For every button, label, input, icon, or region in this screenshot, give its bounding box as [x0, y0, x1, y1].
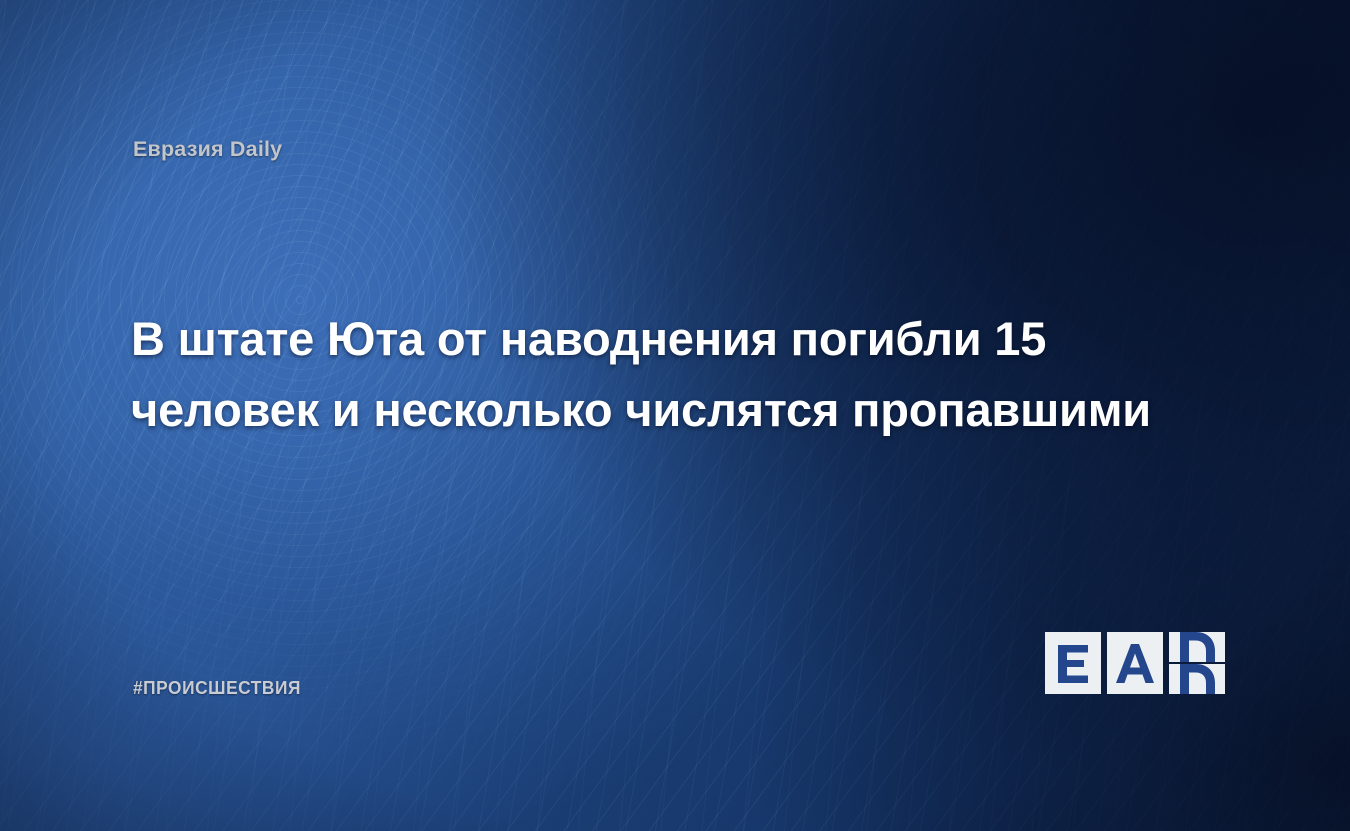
category-tag[interactable]: #ПРОИСШЕСТВИЯ — [133, 678, 301, 699]
share-card: Евразия Daily В штате Юта от наводнения … — [0, 0, 1350, 831]
logo-tile-a — [1107, 632, 1163, 694]
logo-tile-d-stack — [1169, 632, 1225, 694]
logo-letter-d-bottom-icon — [1177, 664, 1217, 694]
ead-logo[interactable] — [1045, 632, 1225, 694]
card-content: Евразия Daily В штате Юта от наводнения … — [0, 0, 1350, 831]
logo-tile-d-bottom — [1169, 664, 1225, 694]
logo-letter-a-icon — [1115, 643, 1155, 683]
logo-tile-d-top — [1169, 632, 1225, 662]
logo-letter-d-top-icon — [1177, 632, 1217, 662]
logo-letter-e-icon — [1056, 643, 1090, 683]
site-name[interactable]: Евразия Daily — [133, 137, 282, 162]
logo-tile-e — [1045, 632, 1101, 694]
article-headline[interactable]: В штате Юта от наводнения погибли 15 чел… — [131, 303, 1221, 445]
